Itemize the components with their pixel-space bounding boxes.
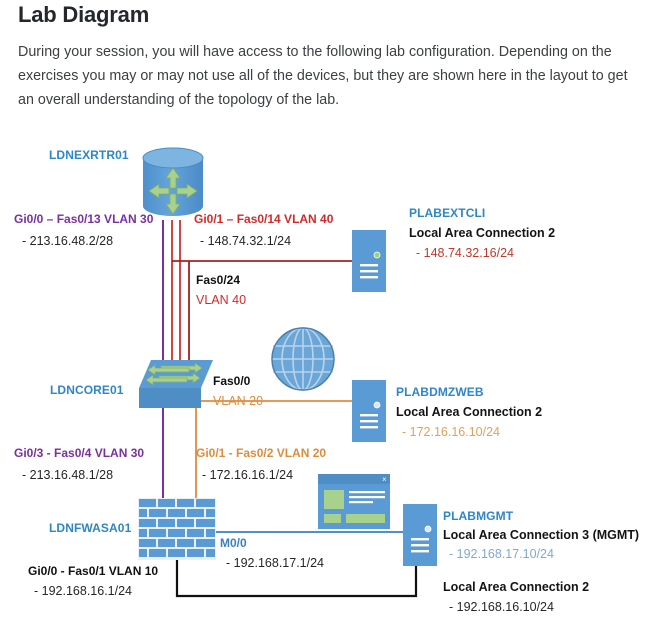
extcli-conn-label: Local Area Connection 2 xyxy=(409,226,555,240)
server-icon-mgmt xyxy=(403,504,437,566)
link-ip-rtr-gi0-0: - 213.16.48.2/28 xyxy=(22,234,113,248)
link-label-fw-gi0-3: Gi0/3 - Fas0/4 VLAN 30 xyxy=(14,446,144,460)
server-icon-extcli xyxy=(352,230,386,292)
application-window-icon: × xyxy=(318,474,390,529)
mgmt-conn3-label: Local Area Connection 3 (MGMT) xyxy=(443,528,639,542)
link-label-core-fas0-24: Fas0/24 xyxy=(196,273,240,287)
firewall-icon xyxy=(138,498,216,560)
firewall-label: LDNFWASA01 xyxy=(49,521,131,535)
dmzweb-conn-label: Local Area Connection 2 xyxy=(396,405,542,419)
page-title: Lab Diagram xyxy=(18,2,149,28)
mgmt-label: PLABMGMT xyxy=(443,509,513,523)
switch-icon xyxy=(139,358,213,410)
link-ip-fw-gi0-3: - 213.16.48.1/28 xyxy=(22,468,113,482)
link-ip-fw-gi0-0: - 192.168.16.1/24 xyxy=(34,584,132,598)
router-icon xyxy=(133,146,213,220)
link-vlan-core-fas0-0: VLAN 20 xyxy=(213,394,263,408)
server-icon-dmzweb xyxy=(352,380,386,442)
link-label-fw-gi0-1: Gi0/1 - Fas0/2 VLAN 20 xyxy=(196,446,326,460)
mgmt-conn2-label: Local Area Connection 2 xyxy=(443,580,589,594)
globe-icon xyxy=(270,326,336,392)
link-label-core-fas0-0: Fas0/0 xyxy=(213,374,250,388)
link-ip-rtr-gi0-1: - 148.74.32.1/24 xyxy=(200,234,291,248)
link-label-rtr-gi0-1: Gi0/1 – Fas0/14 VLAN 40 xyxy=(194,212,333,226)
router-label: LDNEXRTR01 xyxy=(49,148,129,162)
link-label-fw-gi0-0: Gi0/0 - Fas0/1 VLAN 10 xyxy=(28,564,158,578)
dmzweb-conn-ip: - 172.16.16.10/24 xyxy=(402,425,500,439)
extcli-label: PLABEXTCLI xyxy=(409,206,485,220)
link-vlan-core-fas0-24: VLAN 40 xyxy=(196,293,246,307)
extcli-conn-ip: - 148.74.32.16/24 xyxy=(416,246,514,260)
svg-text:×: × xyxy=(382,475,387,484)
link-ip-fw-m0-0: - 192.168.17.1/24 xyxy=(226,556,324,570)
lab-topology-diagram: LDNEXRTR01 Gi0/0 – Fas0/13 VLAN 30 - 213… xyxy=(0,136,649,628)
link-label-fw-m0-0: M0/0 xyxy=(220,536,247,550)
mgmt-conn3-ip: - 192.168.17.10/24 xyxy=(449,547,554,561)
mgmt-conn2-ip: - 192.168.16.10/24 xyxy=(449,600,554,614)
link-label-rtr-gi0-0: Gi0/0 – Fas0/13 VLAN 30 xyxy=(14,212,153,226)
link-ip-fw-gi0-1: - 172.16.16.1/24 xyxy=(202,468,293,482)
dmzweb-label: PLABDMZWEB xyxy=(396,385,484,399)
intro-paragraph: During your session, you will have acces… xyxy=(18,40,634,112)
core-switch-label: LDNCORE01 xyxy=(50,383,124,397)
